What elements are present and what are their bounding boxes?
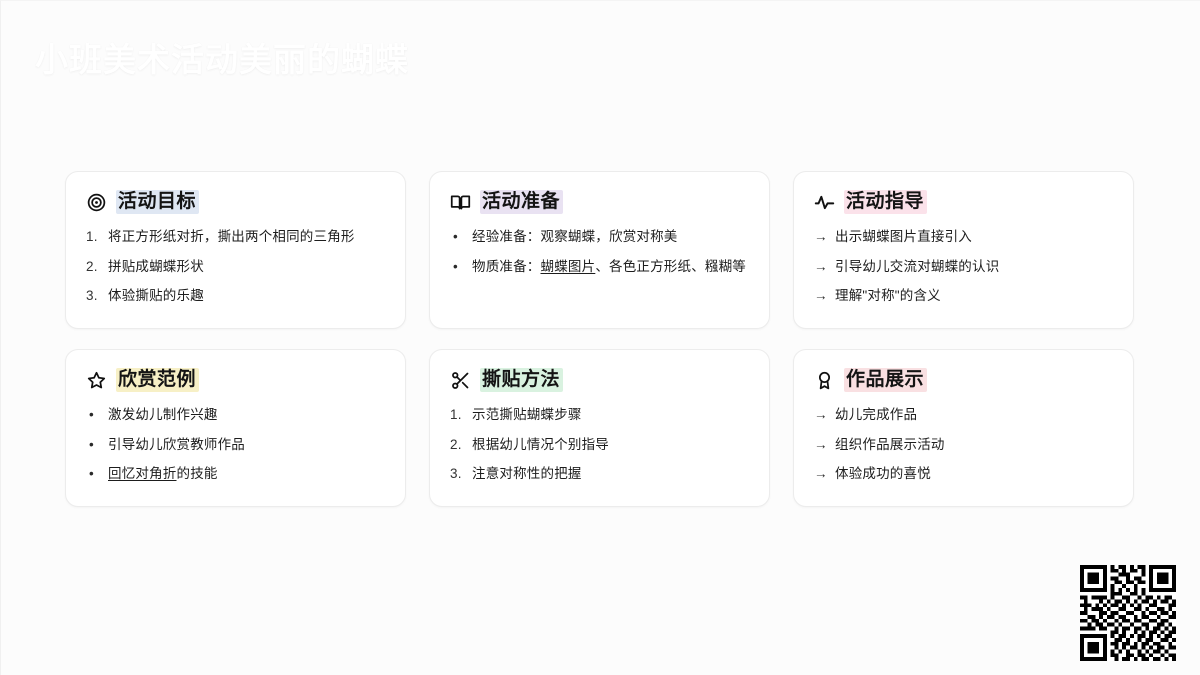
card-header: 欣赏范例 bbox=[86, 368, 385, 392]
list-item: → 引导幼儿交流对蝴蝶的认识 bbox=[814, 258, 1113, 276]
list-item-text: 幼儿完成作品 bbox=[835, 406, 1113, 424]
card-list: • 经验准备：观察蝴蝶，欣赏对称美 • 物质准备：蝴蝶图片、各色正方形纸、糨糊等 bbox=[450, 228, 749, 275]
list-marker: 1. bbox=[86, 228, 101, 246]
list-item: 2. 根据幼儿情况个别指导 bbox=[450, 436, 749, 454]
list-marker: • bbox=[89, 465, 98, 483]
list-item-text: 物质准备：蝴蝶图片、各色正方形纸、糨糊等 bbox=[472, 258, 749, 276]
list-item-text: 注意对称性的把握 bbox=[472, 465, 749, 483]
card-list: 1. 示范撕贴蝴蝶步骤 2. 根据幼儿情况个别指导 3. 注意对称性的把握 bbox=[450, 406, 749, 483]
list-item: • 回忆对角折的技能 bbox=[86, 465, 385, 483]
list-item-text: 拼贴成蝴蝶形状 bbox=[108, 258, 385, 276]
page-title: 小班美术活动美丽的蝴蝶 bbox=[35, 33, 409, 81]
list-item: • 激发幼儿制作兴趣 bbox=[86, 406, 385, 424]
card-header: 活动准备 bbox=[450, 190, 749, 214]
list-marker: • bbox=[89, 436, 98, 454]
card-title: 活动目标 bbox=[116, 190, 199, 214]
list-item: 1. 示范撕贴蝴蝶步骤 bbox=[450, 406, 749, 424]
scissors-icon bbox=[450, 370, 471, 391]
list-item: 2. 拼贴成蝴蝶形状 bbox=[86, 258, 385, 276]
card-grid: 活动目标 1. 将正方形纸对折，撕出两个相同的三角形 2. 拼贴成蝴蝶形状 3.… bbox=[65, 171, 1143, 507]
qr-code[interactable] bbox=[1080, 565, 1176, 661]
list-marker: 2. bbox=[86, 258, 101, 276]
card-tear-paste-method[interactable]: 撕贴方法 1. 示范撕贴蝴蝶步骤 2. 根据幼儿情况个别指导 3. 注意对称性的… bbox=[429, 349, 770, 507]
card-header: 作品展示 bbox=[814, 368, 1113, 392]
card-activity-guidance[interactable]: 活动指导 → 出示蝴蝶图片直接引入 → 引导幼儿交流对蝴蝶的认识 → 理解"对称… bbox=[793, 171, 1134, 329]
list-item: → 出示蝴蝶图片直接引入 bbox=[814, 228, 1113, 246]
list-marker: → bbox=[814, 287, 828, 305]
list-item: • 经验准备：观察蝴蝶，欣赏对称美 bbox=[450, 228, 749, 246]
list-item-text: 根据幼儿情况个别指导 bbox=[472, 436, 749, 454]
list-marker: 1. bbox=[450, 406, 465, 424]
list-item: → 理解"对称"的含义 bbox=[814, 287, 1113, 305]
card-activity-goal[interactable]: 活动目标 1. 将正方形纸对折，撕出两个相同的三角形 2. 拼贴成蝴蝶形状 3.… bbox=[65, 171, 406, 329]
list-marker: → bbox=[814, 436, 828, 454]
list-item: • 引导幼儿欣赏教师作品 bbox=[86, 436, 385, 454]
list-item-text-lead: 物质准备： bbox=[472, 259, 541, 274]
list-item-text: 将正方形纸对折，撕出两个相同的三角形 bbox=[108, 228, 385, 246]
award-icon bbox=[814, 370, 835, 391]
qr-code-image bbox=[1080, 565, 1176, 661]
target-icon bbox=[86, 192, 107, 213]
card-title: 活动指导 bbox=[844, 190, 927, 214]
book-open-icon bbox=[450, 192, 471, 213]
list-marker: → bbox=[814, 258, 828, 276]
list-item-text: 出示蝴蝶图片直接引入 bbox=[835, 228, 1113, 246]
list-marker: 3. bbox=[450, 465, 465, 483]
list-item-text: 激发幼儿制作兴趣 bbox=[108, 406, 385, 424]
list-item-text: 引导幼儿欣赏教师作品 bbox=[108, 436, 385, 454]
list-item: 3. 注意对称性的把握 bbox=[450, 465, 749, 483]
card-title: 欣赏范例 bbox=[116, 368, 199, 392]
list-marker: • bbox=[89, 406, 98, 424]
list-item-text: 引导幼儿交流对蝴蝶的认识 bbox=[835, 258, 1113, 276]
list-item: • 物质准备：蝴蝶图片、各色正方形纸、糨糊等 bbox=[450, 258, 749, 276]
list-marker: • bbox=[453, 228, 462, 246]
star-icon bbox=[86, 370, 107, 391]
slide-canvas: 小班美术活动美丽的蝴蝶 活动目标 1. 将正方形纸对折，撕出两个相同的三角形 bbox=[0, 0, 1200, 675]
list-marker: → bbox=[814, 465, 828, 483]
list-marker: 3. bbox=[86, 287, 101, 305]
card-header: 活动指导 bbox=[814, 190, 1113, 214]
list-item-text: 体验成功的喜悦 bbox=[835, 465, 1113, 483]
card-appreciate-example[interactable]: 欣赏范例 • 激发幼儿制作兴趣 • 引导幼儿欣赏教师作品 • 回忆对角折的技能 bbox=[65, 349, 406, 507]
list-marker: → bbox=[814, 406, 828, 424]
list-item: 1. 将正方形纸对折，撕出两个相同的三角形 bbox=[86, 228, 385, 246]
card-title: 作品展示 bbox=[844, 368, 927, 392]
card-title: 撕贴方法 bbox=[480, 368, 563, 392]
list-item-text-tail: 、各色正方形纸、糨糊等 bbox=[595, 259, 746, 274]
list-marker: • bbox=[453, 258, 462, 276]
card-header: 活动目标 bbox=[86, 190, 385, 214]
list-item-link[interactable]: 蝴蝶图片 bbox=[541, 259, 596, 274]
list-marker: 2. bbox=[450, 436, 465, 454]
card-title: 活动准备 bbox=[480, 190, 563, 214]
list-item-text-tail: 的技能 bbox=[177, 466, 218, 481]
list-item-link[interactable]: 回忆对角折 bbox=[108, 466, 177, 481]
list-item-text: 经验准备：观察蝴蝶，欣赏对称美 bbox=[472, 228, 749, 246]
list-item-text: 理解"对称"的含义 bbox=[835, 287, 1113, 305]
list-item: → 组织作品展示活动 bbox=[814, 436, 1113, 454]
card-header: 撕贴方法 bbox=[450, 368, 749, 392]
card-activity-preparation[interactable]: 活动准备 • 经验准备：观察蝴蝶，欣赏对称美 • 物质准备：蝴蝶图片、各色正方形… bbox=[429, 171, 770, 329]
card-list: → 幼儿完成作品 → 组织作品展示活动 → 体验成功的喜悦 bbox=[814, 406, 1113, 483]
card-list: • 激发幼儿制作兴趣 • 引导幼儿欣赏教师作品 • 回忆对角折的技能 bbox=[86, 406, 385, 483]
list-item-text: 回忆对角折的技能 bbox=[108, 465, 385, 483]
card-work-display[interactable]: 作品展示 → 幼儿完成作品 → 组织作品展示活动 → 体验成功的喜悦 bbox=[793, 349, 1134, 507]
card-list: → 出示蝴蝶图片直接引入 → 引导幼儿交流对蝴蝶的认识 → 理解"对称"的含义 bbox=[814, 228, 1113, 305]
list-item: 3. 体验撕贴的乐趣 bbox=[86, 287, 385, 305]
list-item-text: 体验撕贴的乐趣 bbox=[108, 287, 385, 305]
card-list: 1. 将正方形纸对折，撕出两个相同的三角形 2. 拼贴成蝴蝶形状 3. 体验撕贴… bbox=[86, 228, 385, 305]
list-item-text: 示范撕贴蝴蝶步骤 bbox=[472, 406, 749, 424]
list-marker: → bbox=[814, 228, 828, 246]
list-item-text: 组织作品展示活动 bbox=[835, 436, 1113, 454]
activity-pulse-icon bbox=[814, 192, 835, 213]
list-item: → 体验成功的喜悦 bbox=[814, 465, 1113, 483]
list-item: → 幼儿完成作品 bbox=[814, 406, 1113, 424]
